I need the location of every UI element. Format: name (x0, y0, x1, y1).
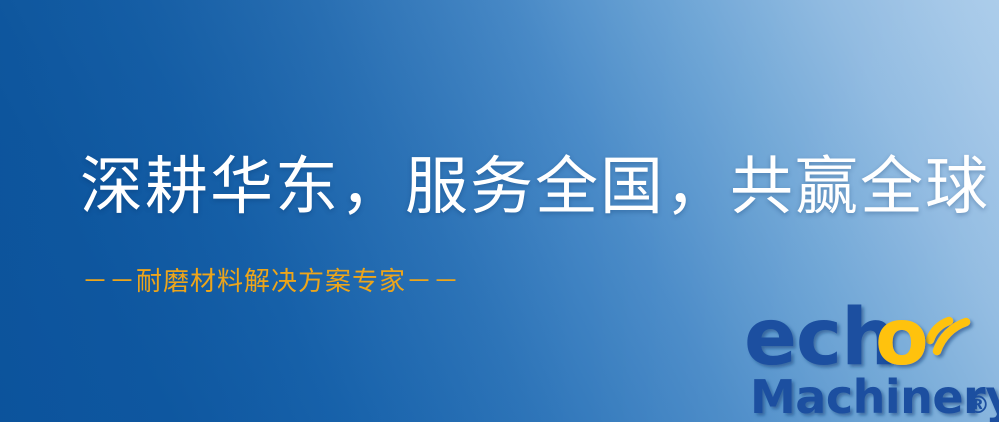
echo-machinery-logo: ech o Machinery ® (744, 296, 999, 422)
promo-banner: 深耕华东，服务全国，共赢全球 －－耐磨材料解决方案专家－－ ech o (0, 0, 999, 422)
registered-trademark-icon: ® (966, 391, 990, 419)
logo-svg: ech o Machinery ® (744, 296, 999, 422)
banner-subtitle: －－耐磨材料解决方案专家－－ (82, 266, 460, 297)
logo-wordmark-machinery: Machinery (750, 370, 999, 422)
banner-headline: 深耕华东，服务全国，共赢全球 (80, 150, 990, 224)
echo-wave-icon (930, 321, 966, 351)
banner-content: 深耕华东，服务全国，共赢全球 －－耐磨材料解决方案专家－－ ech o (0, 0, 999, 422)
